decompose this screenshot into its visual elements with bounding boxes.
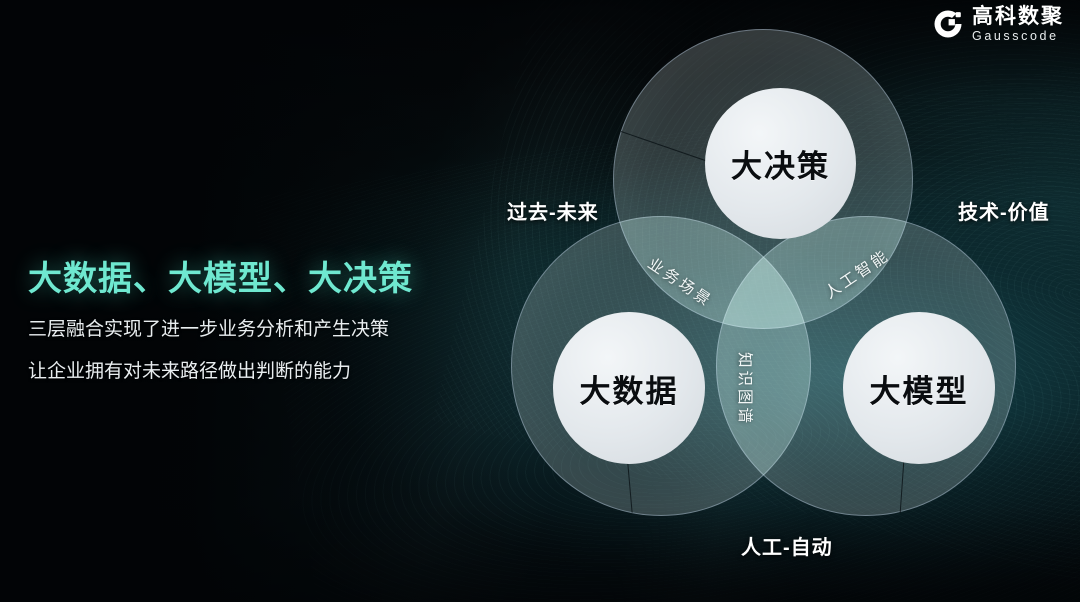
subtitle-line-1: 三层融合实现了进一步业务分析和产生决策	[28, 320, 498, 341]
brand-wordmark: 高科数聚 Gausscode	[972, 6, 1064, 43]
brand-logo: 高科数聚 Gausscode	[933, 6, 1064, 43]
brand-name-cn: 高科数聚	[972, 6, 1064, 27]
subtitle-line-2: 让企业拥有对未来路径做出判断的能力	[28, 362, 498, 383]
page-title: 大数据、大模型、大决策	[28, 258, 498, 301]
brand-name-en: Gausscode	[972, 30, 1064, 43]
copy-block: 大数据、大模型、大决策 三层融合实现了进一步业务分析和产生决策 让企业拥有对未来…	[28, 258, 498, 383]
slide-canvas: 高科数聚 Gausscode 大数据、大模型、大决策 三层融合实现了进一步业务分…	[0, 0, 1080, 602]
gausscode-circle-mark-icon	[933, 9, 963, 39]
